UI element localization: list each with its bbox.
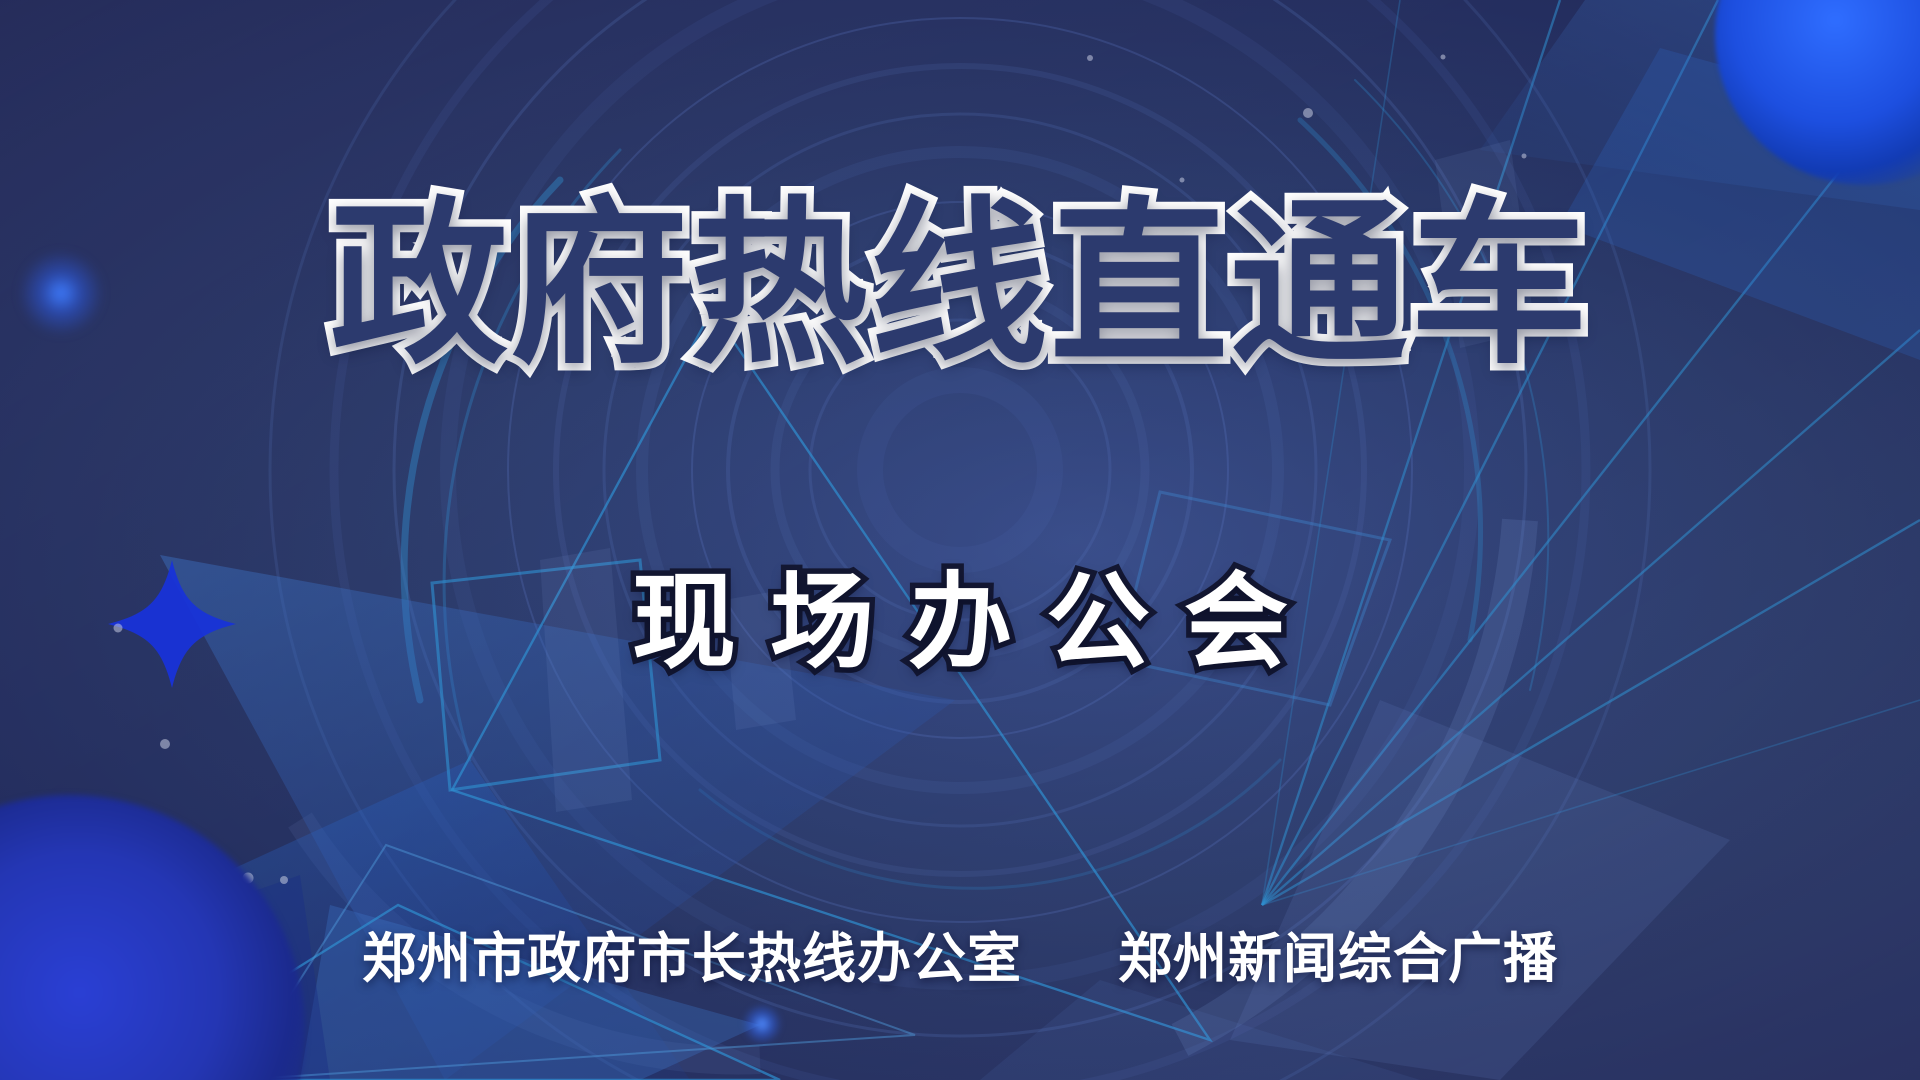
footer-org-left: 郑州市政府市长热线办公室 bbox=[362, 932, 1022, 986]
page-title: 政府热线直通车 bbox=[0, 196, 1920, 374]
footer-organizations: 郑州市政府市长热线办公室 郑州新闻综合广播 bbox=[0, 932, 1920, 986]
poster-content: 政府热线直通车 现场办公会 郑州市政府市长热线办公室 郑州新闻综合广播 bbox=[0, 0, 1920, 1080]
footer-org-right: 郑州新闻综合广播 bbox=[1118, 932, 1558, 986]
poster-canvas: 政府热线直通车 现场办公会 郑州市政府市长热线办公室 郑州新闻综合广播 bbox=[0, 0, 1920, 1080]
page-subtitle: 现场办公会 bbox=[0, 570, 1920, 674]
